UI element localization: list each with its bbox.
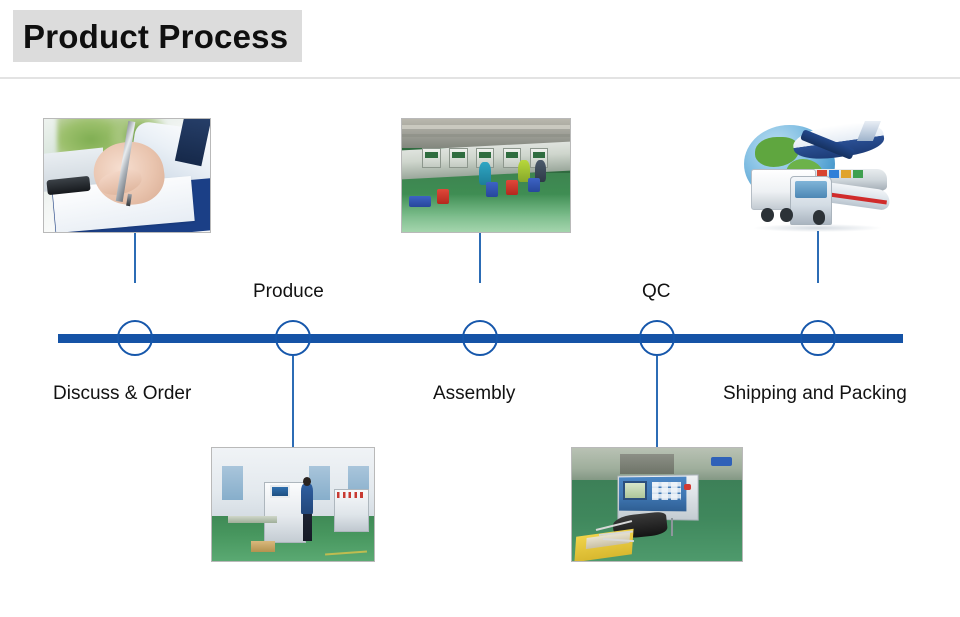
tester-power-button (684, 484, 691, 490)
stool (486, 182, 498, 197)
stage-label-discuss-order: Discuss & Order (53, 384, 191, 403)
truck-wheel (761, 208, 774, 223)
tester-screen (623, 481, 647, 500)
stool (528, 178, 540, 193)
stage-label-produce: Produce (253, 282, 324, 301)
bench-machine (422, 148, 440, 167)
photo-factory-assembly-floor (401, 118, 571, 233)
photo-logistics-globe-transport (738, 115, 900, 237)
connector-assembly (479, 233, 481, 283)
machine-display (270, 485, 289, 497)
ceiling-duct (402, 125, 570, 130)
worker-torso (301, 484, 313, 513)
blue-bin (409, 196, 431, 207)
photo-contract-signing-content (44, 119, 210, 232)
timeline-marker-produce[interactable] (275, 320, 311, 356)
page-header: Product Process (0, 0, 960, 79)
photo-factory-content (402, 119, 570, 232)
photo-qc-content (572, 448, 742, 561)
photo-logistics-content (738, 115, 900, 237)
page-title: Product Process (23, 20, 288, 53)
process-timeline-diagram: Discuss & Order Produce Assembly QC Ship… (0, 79, 960, 617)
truck-windshield (795, 181, 827, 198)
background-shelf (620, 454, 674, 474)
worker-legs (303, 511, 313, 540)
timeline-marker-shipping-packing[interactable] (800, 320, 836, 356)
bench-machine (449, 148, 467, 167)
photo-qc-test-equipment (571, 447, 743, 562)
truck-wheel (813, 210, 826, 225)
timeline-marker-assembly[interactable] (462, 320, 498, 356)
stool (506, 180, 518, 195)
connector-shipping-packing (817, 231, 819, 283)
stage-label-shipping-packing: Shipping and Packing (723, 384, 907, 403)
cardboard-box (251, 541, 275, 552)
wall-panel (222, 466, 243, 500)
stool (437, 189, 449, 204)
background-bin (711, 457, 731, 466)
stage-label-qc: QC (642, 282, 671, 301)
work-table (228, 516, 277, 523)
photo-workshop-content (212, 448, 374, 561)
control-knobs (337, 492, 366, 498)
connector-produce (292, 356, 294, 447)
tester-keypad (652, 482, 681, 500)
page-title-highlight: Product Process (13, 10, 302, 62)
connector-qc (656, 356, 658, 447)
timeline-marker-qc[interactable] (639, 320, 675, 356)
factory-worker (479, 162, 491, 185)
timeline-marker-discuss-order[interactable] (117, 320, 153, 356)
connector-discuss-order (134, 233, 136, 283)
tester-leg (671, 518, 673, 536)
stage-label-assembly: Assembly (433, 384, 515, 403)
photo-contract-signing (43, 118, 211, 233)
ceiling-beam (402, 134, 570, 137)
photo-production-workshop (211, 447, 375, 562)
